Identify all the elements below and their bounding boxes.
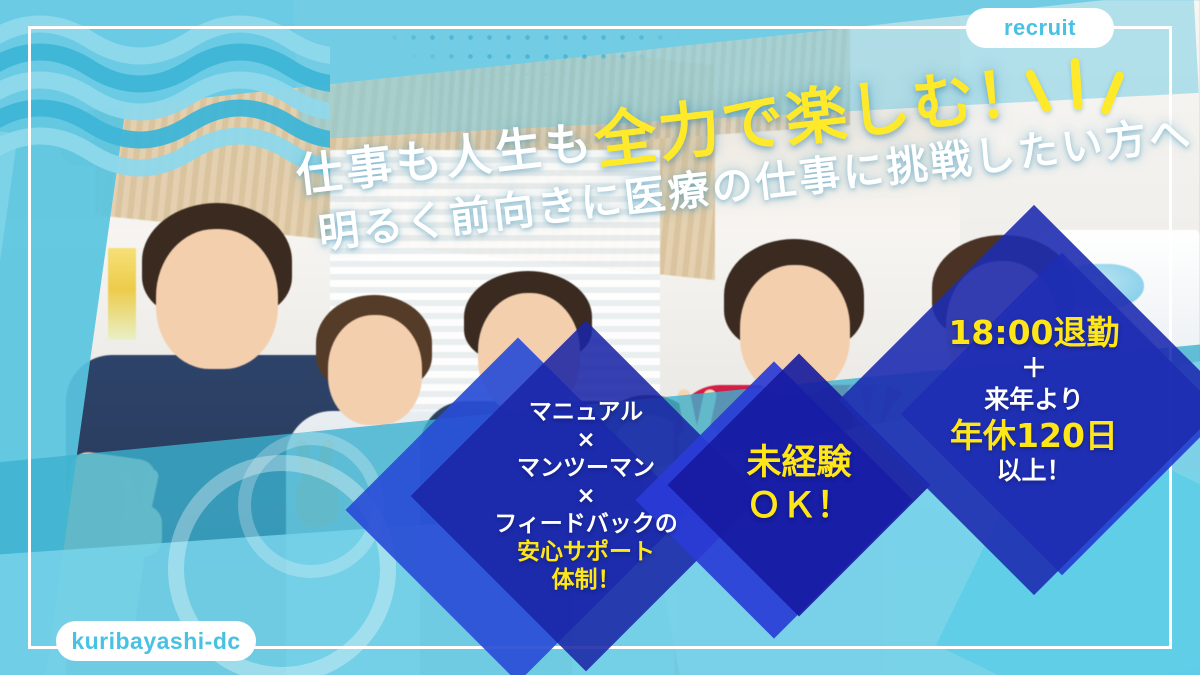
diamond-support-text: マニュアル × マンツーマン × フィードバックの 安心サポート 体制！ [494,398,678,594]
diamond-support-system: マニュアル × マンツーマン × フィードバックの 安心サポート 体制！ [462,372,710,620]
diamond-conditions-text: 18:00退勤 ＋ 来年より 年休120日 以上！ [948,313,1119,486]
support-line-4: フィードバックの [494,510,678,538]
sparkle-decoration [1028,50,1138,130]
clinic-logo-label: kuribayashi-dc [71,628,240,655]
diamond-experience-text: 未経験 ＯＫ！ [746,442,851,527]
conditions-line-0: 来年より [948,385,1119,416]
conditions-plus: ＋ [948,354,1119,386]
experience-highlight-0: 未経験 [746,442,851,485]
support-line-1: × [494,426,678,454]
recruitment-banner: 仕事も人生も全力で楽しむ！ 明るく前向きに医療の仕事に挑戦したい方へ マニュアル… [0,0,1200,675]
conditions-highlight-top: 18:00退勤 [948,313,1119,353]
support-line-3: × [494,482,678,510]
support-highlight-0: 安心サポート [494,538,678,566]
conditions-highlight-big: 年休120日 [948,416,1119,456]
support-line-0: マニュアル [494,398,678,426]
clinic-logo[interactable]: kuribayashi-dc [56,621,256,661]
experience-highlight-1: ＯＫ！ [746,485,851,528]
headline-group: 仕事も人生も全力で楽しむ！ 明るく前向きに医療の仕事に挑戦したい方へ [0,48,1200,228]
recruit-badge[interactable]: recruit [966,8,1114,48]
recruit-badge-label: recruit [1004,15,1076,41]
support-highlight-1: 体制！ [494,566,678,594]
diamond-work-conditions: 18:00退勤 ＋ 来年より 年休120日 以上！ [896,262,1172,538]
support-line-2: マンツーマン [494,454,678,482]
conditions-tail: 以上！ [948,456,1119,487]
